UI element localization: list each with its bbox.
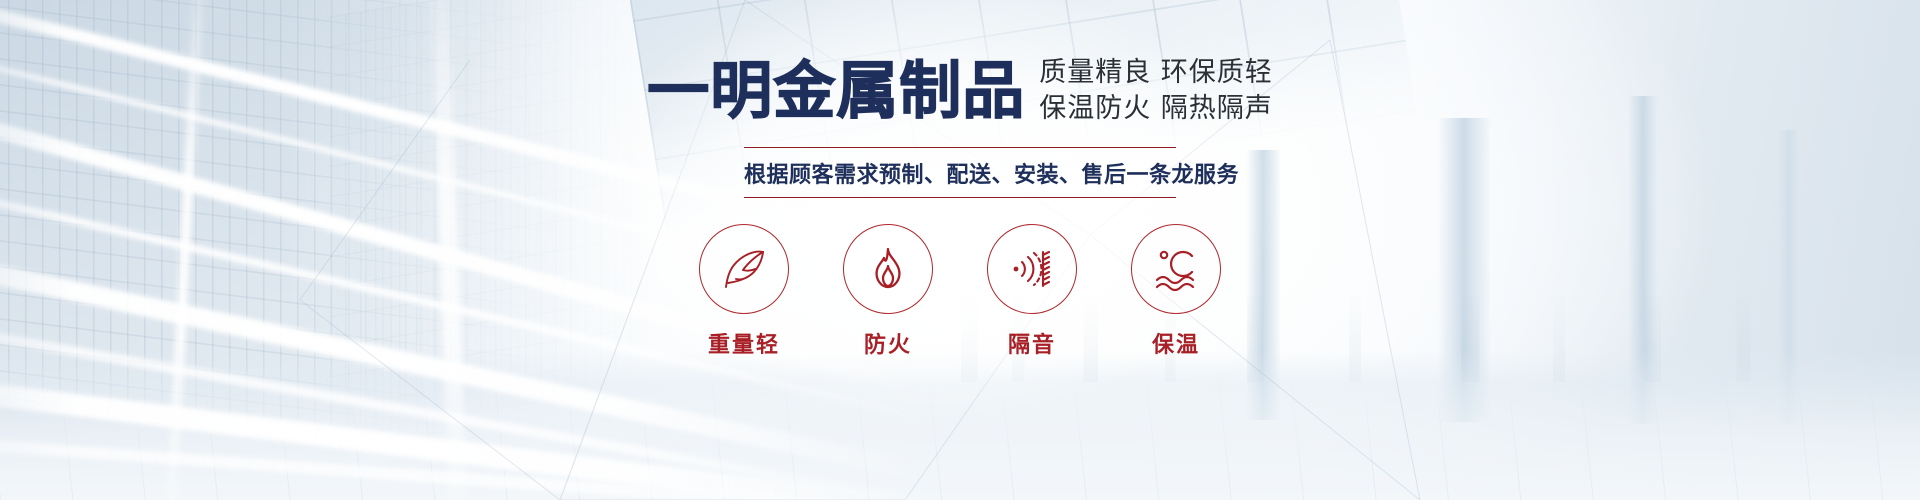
feather-icon bbox=[718, 243, 770, 295]
promo-banner: 一明金属制品 质量精良 环保质轻 保温防火 隔热隔声 根据顾客需求预制、配送、安… bbox=[0, 0, 1920, 500]
feature-label: 隔音 bbox=[1008, 327, 1056, 359]
feature-icon-circle bbox=[843, 224, 933, 314]
feature-item-lightweight[interactable]: 重量轻 bbox=[688, 224, 800, 359]
feature-label: 保温 bbox=[1152, 327, 1200, 359]
title-row: 一明金属制品 质量精良 环保质轻 保温防火 隔热隔声 bbox=[647, 58, 1273, 125]
subtitle-rule-box: 根据顾客需求预制、配送、安装、售后一条龙服务 bbox=[744, 147, 1176, 198]
feature-icon-circle bbox=[1131, 224, 1221, 314]
slogan-line-2: 保温防火 隔热隔声 bbox=[1039, 94, 1273, 125]
slogan-line-1: 质量精良 环保质轻 bbox=[1039, 58, 1273, 89]
temperature-icon bbox=[1150, 244, 1202, 294]
flame-icon bbox=[863, 244, 913, 294]
subtitle: 根据顾客需求预制、配送、安装、售后一条龙服务 bbox=[744, 157, 1176, 189]
feature-icon-circle bbox=[699, 224, 789, 314]
feature-label: 重量轻 bbox=[708, 327, 780, 359]
brand-title: 一明金属制品 bbox=[647, 60, 1025, 122]
feature-label: 防火 bbox=[864, 327, 912, 359]
feature-icon-circle bbox=[987, 224, 1077, 314]
feature-list: 重量轻 防火 bbox=[688, 224, 1232, 359]
soundwave-icon bbox=[1007, 244, 1057, 294]
feature-item-fireproof[interactable]: 防火 bbox=[832, 224, 944, 359]
slogan-block: 质量精良 环保质轻 保温防火 隔热隔声 bbox=[1039, 58, 1273, 125]
banner-content: 一明金属制品 质量精良 环保质轻 保温防火 隔热隔声 根据顾客需求预制、配送、安… bbox=[0, 0, 1920, 500]
feature-item-soundproof[interactable]: 隔音 bbox=[976, 224, 1088, 359]
feature-item-insulation[interactable]: 保温 bbox=[1120, 224, 1232, 359]
